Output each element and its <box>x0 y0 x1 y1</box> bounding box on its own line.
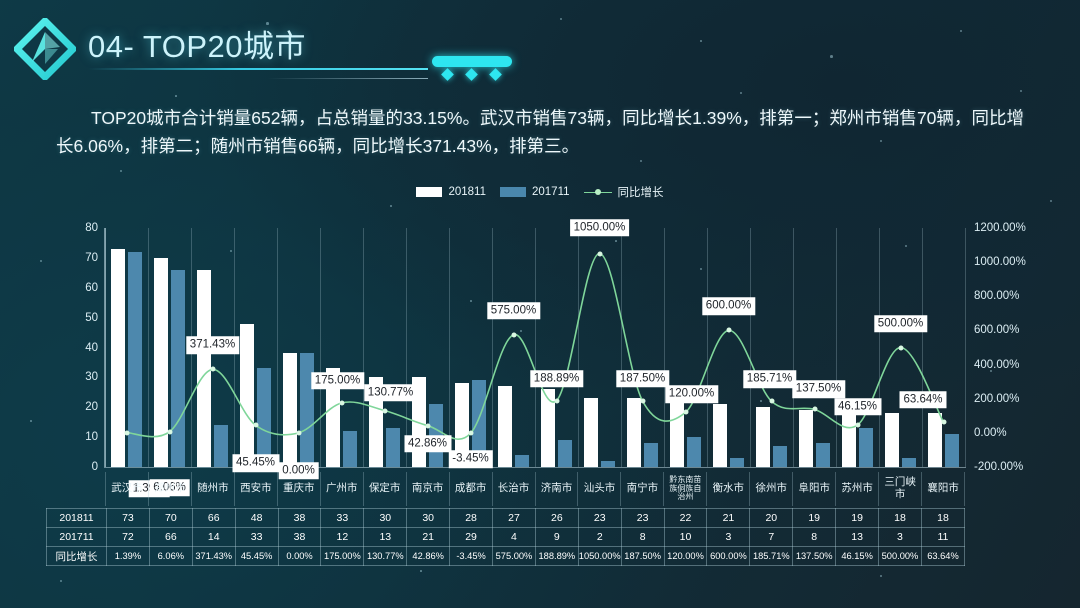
line-point[interactable] <box>511 332 516 337</box>
line-point[interactable] <box>253 423 258 428</box>
y-tick-right: -200.00% <box>974 461 1023 473</box>
line-point[interactable] <box>167 429 172 434</box>
table-cell: 27 <box>493 509 536 528</box>
data-label: 500.00% <box>874 315 927 333</box>
table-row: 20171172661433381213212949281037813311 <box>47 528 965 547</box>
y-tick-left: 20 <box>85 401 98 413</box>
table-row-header: 同比增长 <box>47 547 107 566</box>
legend-item-0[interactable]: 201811 <box>416 186 486 198</box>
line-point[interactable] <box>339 400 344 405</box>
x-axis-label: 黔东南苗族侗族自治州 <box>663 472 706 506</box>
data-label: 600.00% <box>702 298 755 316</box>
table-cell: 48 <box>235 509 278 528</box>
table-cell: 175.00% <box>321 547 364 566</box>
table-cell: 130.77% <box>364 547 407 566</box>
x-axis-label: 广州市 <box>320 472 363 506</box>
title-underline-secondary <box>268 78 428 79</box>
y-tick-left: 10 <box>85 431 98 443</box>
table-cell: 600.00% <box>707 547 750 566</box>
table-cell: 19 <box>836 509 879 528</box>
star-dot <box>60 580 62 582</box>
accent-diamond-icon <box>465 68 478 81</box>
table-cell: 500.00% <box>879 547 922 566</box>
table-cell: 3 <box>879 528 922 547</box>
table-cell: 8 <box>621 528 664 547</box>
line-point[interactable] <box>554 398 559 403</box>
table-cell: 21 <box>407 528 450 547</box>
line-point[interactable] <box>382 408 387 413</box>
y-tick-right: 600.00% <box>974 324 1019 336</box>
table-cell: 22 <box>664 509 707 528</box>
y-tick-right: 0.00% <box>974 427 1007 439</box>
x-axis-label: 随州市 <box>191 472 234 506</box>
legend-line-icon <box>584 187 612 197</box>
data-label: 46.15% <box>834 398 881 416</box>
x-axis-label: 南宁市 <box>620 472 663 506</box>
data-label: 175.00% <box>311 372 364 390</box>
table-cell: 72 <box>107 528 150 547</box>
line-point[interactable] <box>640 398 645 403</box>
data-label: 1050.00% <box>570 219 630 237</box>
table-cell: 12 <box>321 528 364 547</box>
legend-swatch-icon <box>500 187 526 197</box>
slide-canvas: 04- TOP20城市 TOP20城市合计销量652辆，占总销量的33.15%。… <box>0 0 1080 608</box>
table-cell: 63.64% <box>921 547 964 566</box>
line-point[interactable] <box>210 367 215 372</box>
data-label: 185.71% <box>743 370 796 388</box>
table-cell: 6.06% <box>149 547 192 566</box>
table-cell: 11 <box>921 528 964 547</box>
table-cell: 9 <box>535 528 578 547</box>
slide-header: 04- TOP20城市 <box>0 0 1080 96</box>
table-cell: 18 <box>921 509 964 528</box>
line-point[interactable] <box>726 328 731 333</box>
y-tick-left: 70 <box>85 252 98 264</box>
data-label: 45.45% <box>232 454 279 472</box>
table-cell: 30 <box>364 509 407 528</box>
title-underline <box>88 68 428 70</box>
data-label: 120.00% <box>665 386 718 404</box>
star-dot <box>120 170 122 172</box>
data-label: 130.77% <box>364 384 417 402</box>
page-title: 04- TOP20城市 <box>88 21 306 66</box>
y-tick-right: 1200.00% <box>974 222 1026 234</box>
accent-diamond-icon <box>441 68 454 81</box>
line-point[interactable] <box>683 410 688 415</box>
y-tick-left: 30 <box>85 371 98 383</box>
legend-item-2[interactable]: 同比增长 <box>584 184 664 200</box>
x-gridline <box>965 228 966 467</box>
legend-swatch-icon <box>416 187 442 197</box>
table-cell: 2 <box>578 528 621 547</box>
line-point[interactable] <box>425 423 430 428</box>
line-point[interactable] <box>812 407 817 412</box>
star-dot <box>390 205 392 207</box>
y-tick-right: 800.00% <box>974 290 1019 302</box>
line-point[interactable] <box>855 422 860 427</box>
x-axis-label: 成都市 <box>449 472 492 506</box>
y-tick-left: 40 <box>85 342 98 354</box>
x-axis-label: 重庆市 <box>277 472 320 506</box>
star-dot <box>420 570 422 572</box>
star-dot <box>880 575 882 577</box>
data-table: 2018117370664838333030282726232322212019… <box>46 508 965 566</box>
table-cell: 185.71% <box>750 547 793 566</box>
table-cell: 18 <box>879 509 922 528</box>
y-tick-left: 0 <box>92 461 98 473</box>
table-row: 2018117370664838333030282726232322212019… <box>47 509 965 528</box>
table-cell: 13 <box>836 528 879 547</box>
table-row-header: 201811 <box>47 509 107 528</box>
line-point[interactable] <box>597 251 602 256</box>
x-axis-label: 南京市 <box>406 472 449 506</box>
table-cell: 14 <box>192 528 235 547</box>
table-cell: 66 <box>149 528 192 547</box>
y-axis-left: 01020304050607080 <box>60 228 104 468</box>
table-row: 同比增长1.39%6.06%371.43%45.45%0.00%175.00%1… <box>47 547 965 566</box>
line-point[interactable] <box>124 430 129 435</box>
table-cell: 42.86% <box>407 547 450 566</box>
data-label: 187.50% <box>616 370 669 388</box>
line-point[interactable] <box>898 345 903 350</box>
x-axis-label: 阜阳市 <box>792 472 835 506</box>
legend-item-1[interactable]: 201711 <box>500 186 570 198</box>
y-tick-right: 200.00% <box>974 393 1019 405</box>
table-cell: 38 <box>278 509 321 528</box>
chart-legend: 201811201711同比增长 <box>0 182 1080 202</box>
y-tick-left: 80 <box>85 222 98 234</box>
table-cell: 7 <box>750 528 793 547</box>
table-cell: 45.45% <box>235 547 278 566</box>
table-cell: 66 <box>192 509 235 528</box>
y-axis-right: -200.00%0.00%200.00%400.00%600.00%800.00… <box>968 228 1068 468</box>
table-cell: 23 <box>578 509 621 528</box>
table-cell: 21 <box>707 509 750 528</box>
table-cell: 188.89% <box>535 547 578 566</box>
x-axis-label: 襄阳市 <box>921 472 965 506</box>
table-row-header: 201711 <box>47 528 107 547</box>
data-label: 137.50% <box>792 381 845 399</box>
x-axis-label: 保定市 <box>363 472 406 506</box>
table-cell: 371.43% <box>192 547 235 566</box>
y-tick-right: 400.00% <box>974 359 1019 371</box>
line-point[interactable] <box>769 399 774 404</box>
table-cell: 13 <box>364 528 407 547</box>
accent-bar <box>432 56 512 67</box>
x-axis-label: 长治市 <box>492 472 535 506</box>
data-label: 42.86% <box>404 435 451 453</box>
table-cell: 1050.00% <box>578 547 621 566</box>
line-point[interactable] <box>941 419 946 424</box>
table-cell: 70 <box>149 509 192 528</box>
x-axis-label: 武汉市 <box>105 472 148 506</box>
table-cell: 4 <box>493 528 536 547</box>
plot-area: 1.39%6.06%371.43%45.45%0.00%175.00%130.7… <box>105 228 965 467</box>
table-cell: 187.50% <box>621 547 664 566</box>
line-point[interactable] <box>296 430 301 435</box>
legend-label: 同比增长 <box>618 184 664 200</box>
x-axis-label: 衡水市 <box>706 472 749 506</box>
x-axis-label: 苏州市 <box>835 472 878 506</box>
table-cell: 20 <box>750 509 793 528</box>
legend-label: 201811 <box>448 186 486 198</box>
table-cell: 29 <box>450 528 493 547</box>
x-axis-label: 西安市 <box>234 472 277 506</box>
table-cell: 73 <box>107 509 150 528</box>
diamond-logo-icon <box>14 18 76 80</box>
data-label: 63.64% <box>899 391 946 409</box>
table-cell: 120.00% <box>664 547 707 566</box>
table-cell: 33 <box>321 509 364 528</box>
table-cell: 3 <box>707 528 750 547</box>
data-label: 371.43% <box>186 337 239 355</box>
y-tick-right: 1000.00% <box>974 256 1026 268</box>
x-axis-label: 徐州市 <box>749 472 792 506</box>
table-cell: 46.15% <box>836 547 879 566</box>
table-cell: 137.50% <box>793 547 836 566</box>
data-label: 188.89% <box>530 370 583 388</box>
accent-diamond-icon <box>489 68 502 81</box>
table-cell: 8 <box>793 528 836 547</box>
line-point[interactable] <box>468 431 473 436</box>
legend-label: 201711 <box>532 186 570 198</box>
table-cell: 0.00% <box>278 547 321 566</box>
table-cell: 1.39% <box>107 547 150 566</box>
x-axis-label: 郑州市 <box>148 472 191 506</box>
chart-area: 01020304050607080 -200.00%0.00%200.00%40… <box>0 228 1080 480</box>
table-cell: 19 <box>793 509 836 528</box>
table-cell: 575.00% <box>493 547 536 566</box>
data-label: 575.00% <box>487 302 540 320</box>
table-cell: 33 <box>235 528 278 547</box>
x-axis-label: 济南市 <box>535 472 578 506</box>
x-axis-label: 汕头市 <box>577 472 620 506</box>
data-label: -3.45% <box>448 451 492 469</box>
table-cell: 23 <box>621 509 664 528</box>
x-axis-labels: 武汉市郑州市随州市西安市重庆市广州市保定市南京市成都市长治市济南市汕头市南宁市黔… <box>105 472 965 506</box>
table-cell: 38 <box>278 528 321 547</box>
summary-paragraph: TOP20城市合计销量652辆，占总销量的33.15%。武汉市销售73辆，同比增… <box>56 104 1024 161</box>
table-cell: 28 <box>450 509 493 528</box>
table-cell: -3.45% <box>450 547 493 566</box>
table-cell: 26 <box>535 509 578 528</box>
table-cell: 10 <box>664 528 707 547</box>
y-tick-left: 50 <box>85 312 98 324</box>
y-tick-left: 60 <box>85 282 98 294</box>
table-cell: 30 <box>407 509 450 528</box>
x-axis-label: 三门峡市 <box>878 472 921 506</box>
